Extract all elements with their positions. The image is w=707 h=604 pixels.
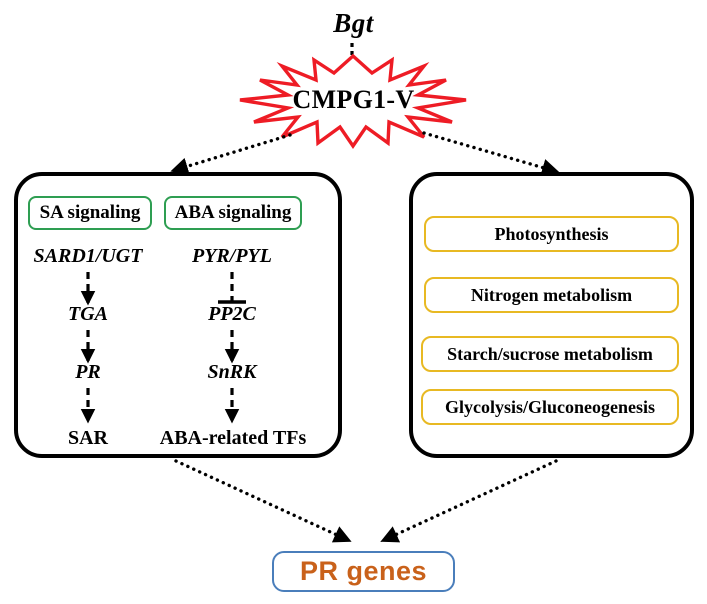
signaling-header-sa-label: SA signaling: [40, 202, 141, 224]
step-sar: SAR: [8, 428, 168, 448]
arrow-cmpg1-to-left-panel: [172, 135, 290, 171]
signaling-header-aba[interactable]: ABA signaling: [164, 196, 302, 230]
process-box-nitrogen-metabolism-label: Nitrogen metabolism: [471, 285, 632, 306]
step-aba-related-tfs: ABA-related TFs: [148, 428, 318, 448]
process-box-starch-sucrose-metabolism-label: Starch/sucrose metabolism: [447, 344, 653, 365]
step-snrk: SnRK: [152, 362, 312, 382]
arrow-cmpg1-to-right-panel: [424, 133, 558, 172]
process-box-glycolysis-gluconeogenesis-label: Glycolysis/Gluconeogenesis: [445, 397, 655, 418]
step-tga: TGA: [8, 304, 168, 324]
step-pp2c: PP2C: [152, 304, 312, 324]
process-box-glycolysis-gluconeogenesis[interactable]: Glycolysis/Gluconeogenesis: [421, 389, 679, 425]
arrow-right-panel-to-pr-genes: [382, 461, 556, 541]
pathogen-label: Bgt: [0, 10, 707, 37]
process-box-photosynthesis[interactable]: Photosynthesis: [424, 216, 679, 252]
arrow-left-panel-to-pr-genes: [176, 461, 350, 541]
step-pyr-pyl: PYR/PYL: [152, 246, 312, 266]
output-node-pr-genes-label: PR genes: [300, 556, 427, 587]
signaling-header-sa[interactable]: SA signaling: [28, 196, 152, 230]
pathway-diagram: Bgt CMPG1-V SA signaling SARD1/UGT TGA P…: [0, 0, 707, 604]
process-box-starch-sucrose-metabolism[interactable]: Starch/sucrose metabolism: [421, 336, 679, 372]
output-node-pr-genes[interactable]: PR genes: [272, 551, 455, 592]
burst-label: CMPG1-V: [0, 87, 707, 113]
process-box-photosynthesis-label: Photosynthesis: [494, 224, 608, 245]
process-box-nitrogen-metabolism[interactable]: Nitrogen metabolism: [424, 277, 679, 313]
signaling-header-aba-label: ABA signaling: [175, 202, 292, 224]
step-pr: PR: [8, 362, 168, 382]
step-sard1-ugt: SARD1/UGT: [8, 246, 168, 266]
